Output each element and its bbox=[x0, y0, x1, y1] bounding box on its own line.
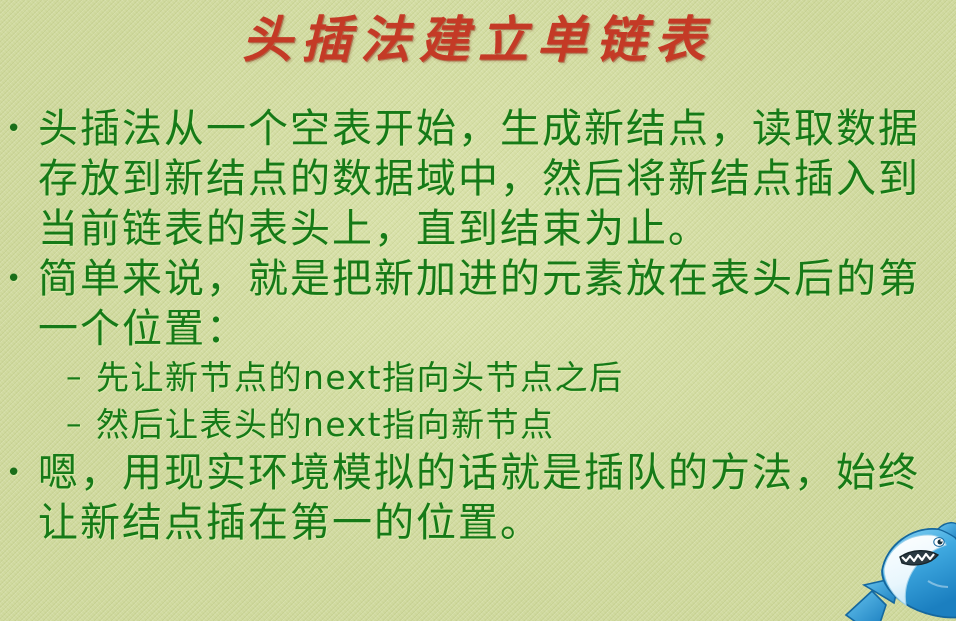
bullet-item-3: • 嗯，用现实环境模拟的话就是插队的方法，始终让新结点插在第一的位置。 bbox=[0, 448, 956, 548]
shark-mascot-icon bbox=[842, 519, 956, 621]
bullet-item-2: • 简单来说，就是把新加进的元素放在表头后的第一个位置： bbox=[0, 254, 956, 354]
bullet-marker-dot-icon: • bbox=[6, 104, 38, 154]
bullet-marker-dot-icon: • bbox=[6, 254, 38, 304]
slide-body-list: • 头插法从一个空表开始，生成新结点，读取数据存放到新结点的数据域中，然后将新结… bbox=[0, 104, 956, 548]
slide-canvas: 头插法建立单链表 • 头插法从一个空表开始，生成新结点，读取数据存放到新结点的数… bbox=[0, 0, 956, 621]
sub-bullet-item-2: – 然后让表头的next指向新节点 bbox=[0, 401, 956, 448]
bullet-marker-dash-icon: – bbox=[66, 354, 96, 401]
bullet-text-1: 头插法从一个空表开始，生成新结点，读取数据存放到新结点的数据域中，然后将新结点插… bbox=[38, 104, 956, 254]
sub-bullet-item-1: – 先让新节点的next指向头节点之后 bbox=[0, 354, 956, 401]
sub-bullet-text-1: 先让新节点的next指向头节点之后 bbox=[96, 354, 956, 401]
bullet-marker-dot-icon: • bbox=[6, 448, 38, 498]
bullet-text-2: 简单来说，就是把新加进的元素放在表头后的第一个位置： bbox=[38, 254, 956, 354]
bullet-marker-dash-icon: – bbox=[66, 401, 96, 448]
sub-bullet-text-2: 然后让表头的next指向新节点 bbox=[96, 401, 956, 448]
bullet-item-1: • 头插法从一个空表开始，生成新结点，读取数据存放到新结点的数据域中，然后将新结… bbox=[0, 104, 956, 254]
bullet-text-3: 嗯，用现实环境模拟的话就是插队的方法，始终让新结点插在第一的位置。 bbox=[38, 448, 956, 548]
slide-title: 头插法建立单链表 bbox=[0, 6, 956, 74]
